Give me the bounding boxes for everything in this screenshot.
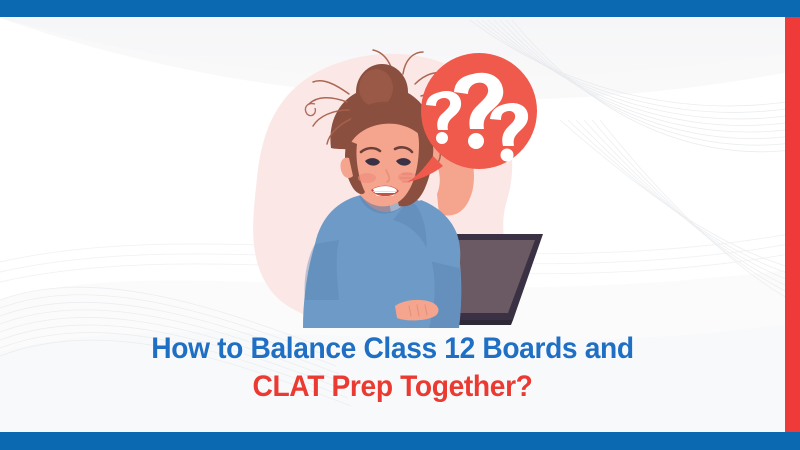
stressed-student-illustration (243, 48, 553, 338)
right-accent-bar (785, 0, 800, 450)
headline-line-1: How to Balance Class 12 Boards and (24, 333, 762, 365)
bottom-accent-bar (0, 432, 800, 450)
typing-hand (395, 300, 438, 321)
top-accent-bar (0, 0, 800, 17)
headline-line-2: CLAT Prep Together? (24, 371, 762, 403)
headline: How to Balance Class 12 Boards and CLAT … (0, 333, 785, 404)
banner-container: How to Balance Class 12 Boards and CLAT … (0, 0, 800, 450)
